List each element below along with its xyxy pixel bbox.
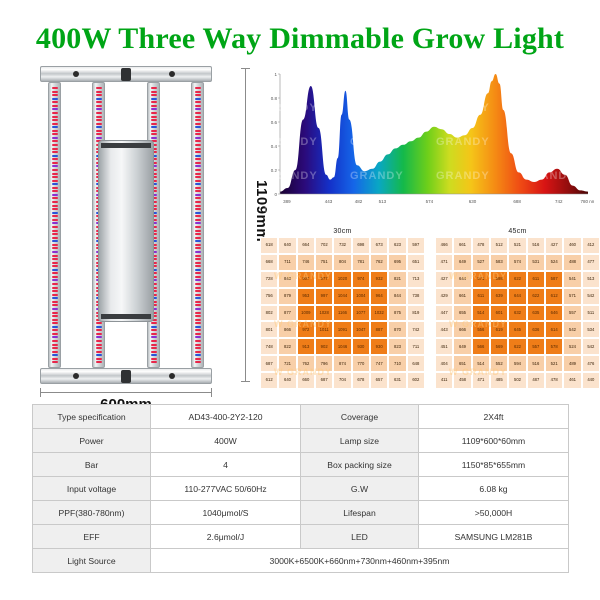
spec-value: 3000K+6500K+660nm+730nm+460nm+395nm — [151, 549, 569, 573]
ppfd-cell: 521 — [545, 355, 563, 372]
spectrum-chart: 00.20.40.60.8138944348251357463068874278… — [258, 66, 594, 226]
ppfd-cell: 622 — [508, 338, 526, 355]
ppfd-cell: 977 — [315, 271, 333, 288]
svg-text:0.8: 0.8 — [271, 96, 278, 101]
ppfd-cell: 698 — [352, 237, 370, 254]
ppfd-map-30cm: 30cm 61864066470273269867362359766871174… — [260, 228, 425, 389]
ppfd-cell: 678 — [352, 372, 370, 389]
grow-light-fixture — [40, 66, 212, 384]
ppfd-cell: 651 — [453, 355, 471, 372]
ppfd-cell: 1046 — [333, 338, 351, 355]
ppfd-cell: 738 — [407, 288, 425, 305]
ppfd-cell: 801 — [260, 321, 278, 338]
spec-value: 400W — [151, 429, 301, 453]
ppfd-cell: 902 — [315, 338, 333, 355]
spec-value: 1040μmol/S — [151, 501, 301, 525]
ppfd-cell: 747 — [370, 355, 388, 372]
ppfd-cell: 427 — [545, 237, 563, 254]
ppfd-cell: 458 — [453, 372, 471, 389]
ppfd-cell: 1020 — [333, 271, 351, 288]
ppfd-cell: 487 — [527, 372, 545, 389]
ppfd-grid: 6186406647027326986736235976687117467518… — [260, 237, 425, 389]
ppfd-cell: 514 — [472, 305, 490, 322]
ppfd-cell: 668 — [260, 254, 278, 271]
table-row: Input voltage110-277VAC 50/60HzG.W6.08 k… — [33, 477, 569, 501]
ppfd-cell: 611 — [527, 271, 545, 288]
ppfd-cell: 1028 — [315, 305, 333, 322]
ppfd-cell: 639 — [490, 288, 508, 305]
ppfd-grid: 4666614785125215164274604124716495275835… — [435, 237, 600, 389]
ppfd-map-label: 45cm — [435, 228, 600, 235]
ppfd-cell: 478 — [545, 372, 563, 389]
width-dimension-line — [40, 392, 212, 393]
spec-label: Bar — [33, 453, 151, 477]
ppfd-cell: 997 — [315, 288, 333, 305]
ppfd-cell: 702 — [315, 237, 333, 254]
ppfd-cell: 756 — [260, 288, 278, 305]
table-row: Bar4Box packing size1150*85*655mm — [33, 453, 569, 477]
ppfd-cell: 1032 — [370, 305, 388, 322]
svg-text:389: 389 — [283, 199, 291, 204]
ppfd-cell: 461 — [563, 372, 581, 389]
table-row: Power400WLamp size1109*600*60mm — [33, 429, 569, 453]
ppfd-cell: 524 — [563, 338, 581, 355]
ppfd-cell: 666 — [453, 321, 471, 338]
ppfd-cell: 614 — [545, 321, 563, 338]
ppfd-cell: 440 — [582, 372, 600, 389]
spec-value: 110-277VAC 50/60Hz — [151, 477, 301, 501]
ppfd-map-45cm: 45cm 46666147851252151642746041247164952… — [435, 228, 600, 389]
ppfd-cell: 651 — [407, 254, 425, 271]
ppfd-cell: 875 — [388, 305, 406, 322]
ppfd-cell: 631 — [388, 372, 406, 389]
product-spec-sheet: 400W Three Way Dimmable Grow Light 1109m… — [0, 0, 600, 600]
ppfd-cell: 1004 — [352, 288, 370, 305]
ppfd-cell: 502 — [508, 372, 526, 389]
ppfd-cell: 411 — [435, 372, 453, 389]
spec-value: 4 — [151, 453, 301, 477]
ppfd-cell: 711 — [407, 338, 425, 355]
led-bar — [191, 82, 204, 368]
ppfd-cell: 488 — [563, 254, 581, 271]
ppfd-cell: 746 — [297, 254, 315, 271]
ppfd-cell: 713 — [407, 271, 425, 288]
ppfd-cell: 542 — [582, 288, 600, 305]
spec-label: Lamp size — [301, 429, 419, 453]
spec-value: 2X4ft — [419, 405, 569, 429]
ppfd-cell: 819 — [407, 305, 425, 322]
ppfd-cell: 1044 — [333, 288, 351, 305]
svg-text:0: 0 — [274, 192, 277, 197]
ppfd-cell: 802 — [260, 305, 278, 322]
ppfd-cell: 511 — [582, 305, 600, 322]
ppfd-cell: 524 — [545, 254, 563, 271]
ppfd-cell: 636 — [527, 321, 545, 338]
ppfd-cell: 602 — [407, 372, 425, 389]
ppfd-cell: 471 — [472, 372, 490, 389]
svg-text:574: 574 — [426, 199, 434, 204]
svg-text:513: 513 — [379, 199, 387, 204]
ppfd-cell: 612 — [545, 288, 563, 305]
ppfd-cell: 513 — [582, 271, 600, 288]
ppfd-cell: 974 — [352, 271, 370, 288]
ppfd-cell: 623 — [388, 237, 406, 254]
ppfd-cell: 644 — [453, 271, 471, 288]
ppfd-cell: 870 — [388, 321, 406, 338]
ppfd-cell: 711 — [278, 254, 296, 271]
ppfd-cell: 619 — [490, 321, 508, 338]
driver-housing — [98, 140, 154, 322]
ppfd-cell: 571 — [472, 271, 490, 288]
svg-text:0.4: 0.4 — [271, 144, 278, 149]
ppfd-cell: 478 — [472, 237, 490, 254]
table-row: EFF2.6μmol/JLEDSAMSUNG LM281B — [33, 525, 569, 549]
ppfd-cell: 471 — [435, 254, 453, 271]
spec-label: Power — [33, 429, 151, 453]
spec-label: Input voltage — [33, 477, 151, 501]
ppfd-cell: 477 — [582, 254, 600, 271]
ppfd-cell: 655 — [453, 305, 471, 322]
ppfd-cell: 447 — [435, 305, 453, 322]
ppfd-cell: 611 — [472, 288, 490, 305]
ppfd-cell: 594 — [508, 355, 526, 372]
spec-label: Box packing size — [301, 453, 419, 477]
ppfd-cell: 964 — [370, 288, 388, 305]
ppfd-cell: 542 — [563, 321, 581, 338]
svg-text:742: 742 — [555, 199, 563, 204]
spec-value: 6.08 kg — [419, 477, 569, 501]
spec-label: Coverage — [301, 405, 419, 429]
spec-value: 1109*600*60mm — [419, 429, 569, 453]
bottom-rail — [40, 368, 212, 384]
ppfd-cell: 742 — [407, 321, 425, 338]
ppfd-cell: 1009 — [297, 305, 315, 322]
spec-label: Type specification — [33, 405, 151, 429]
page-title: 400W Three Way Dimmable Grow Light — [0, 22, 600, 56]
spec-label: G.W — [301, 477, 419, 501]
ppfd-cell: 534 — [582, 321, 600, 338]
ppfd-cell: 597 — [407, 237, 425, 254]
ppfd-cell: 583 — [490, 254, 508, 271]
ppfd-cell: 664 — [297, 237, 315, 254]
ppfd-cell: 512 — [490, 237, 508, 254]
svg-text:0.2: 0.2 — [271, 168, 278, 173]
ppfd-cell: 527 — [472, 254, 490, 271]
ppfd-cell: 877 — [278, 305, 296, 322]
spec-label: PPF(380-780nm) — [33, 501, 151, 525]
ppfd-cell: 574 — [508, 254, 526, 271]
ppfd-cell: 770 — [352, 355, 370, 372]
ppfd-cell: 661 — [453, 237, 471, 254]
ppfd-cell: 728 — [260, 271, 278, 288]
ppfd-cell: 649 — [453, 254, 471, 271]
ppfd-cell: 1091 — [333, 321, 351, 338]
ppfd-cell: 673 — [370, 237, 388, 254]
ppfd-cell: 622 — [508, 271, 526, 288]
ppfd-cell: 721 — [278, 355, 296, 372]
ppfd-cell: 710 — [388, 355, 406, 372]
ppfd-cell: 460 — [563, 237, 581, 254]
ppfd-cell: 661 — [453, 288, 471, 305]
ppfd-cell: 618 — [260, 237, 278, 254]
ppfd-cell: 485 — [490, 372, 508, 389]
table-row: Light Source3000K+6500K+660nm+730nm+460n… — [33, 549, 569, 573]
ppfd-cell: 644 — [508, 288, 526, 305]
ppfd-cell: 657 — [370, 372, 388, 389]
ppfd-cell: 822 — [278, 338, 296, 355]
ppfd-cell: 907 — [297, 271, 315, 288]
svg-text:443: 443 — [325, 199, 333, 204]
table-row: PPF(380-780nm)1040μmol/SLifespan>50,000H — [33, 501, 569, 525]
spec-value: AD43-400-2Y2-120 — [151, 405, 301, 429]
ppfd-cell: 640 — [278, 237, 296, 254]
ppfd-cell: 930 — [370, 338, 388, 355]
ppfd-cell: 821 — [388, 271, 406, 288]
spec-value: SAMSUNG LM281B — [419, 525, 569, 549]
ppfd-cell: 930 — [352, 338, 370, 355]
ppfd-cell: 648 — [407, 355, 425, 372]
ppfd-cell: 404 — [435, 355, 453, 372]
ppfd-cell: 635 — [527, 305, 545, 322]
bottom-mount-knob — [121, 370, 131, 383]
spec-label: LED — [301, 525, 419, 549]
ppfd-cell: 781 — [352, 254, 370, 271]
top-mount-knob — [121, 68, 131, 81]
ppfd-cell: 645 — [508, 321, 526, 338]
ppfd-cell: 587 — [545, 271, 563, 288]
ppfd-cell: 598 — [490, 271, 508, 288]
ppfd-cell: 660 — [297, 372, 315, 389]
ppfd-cell: 953 — [297, 288, 315, 305]
ppfd-cell: 566 — [472, 338, 490, 355]
spec-label: Light Source — [33, 549, 151, 573]
ppfd-cell: 427 — [435, 271, 453, 288]
ppfd-cell: 913 — [297, 338, 315, 355]
ppfd-map-label: 30cm — [260, 228, 425, 235]
ppfd-cell: 1166 — [333, 305, 351, 322]
spec-label: EFF — [33, 525, 151, 549]
spec-value: 2.6μmol/J — [151, 525, 301, 549]
led-bar — [48, 82, 61, 368]
svg-text:780 nm: 780 nm — [580, 199, 594, 204]
ppfd-cell: 640 — [278, 372, 296, 389]
ppfd-cell: 429 — [435, 288, 453, 305]
svg-text:630: 630 — [469, 199, 477, 204]
ppfd-cell: 556 — [472, 321, 490, 338]
ppfd-cell: 569 — [490, 338, 508, 355]
ppfd-cell: 521 — [508, 237, 526, 254]
ppfd-cell: 412 — [582, 237, 600, 254]
svg-text:1: 1 — [274, 72, 277, 77]
svg-text:482: 482 — [355, 199, 363, 204]
spec-label: Lifespan — [301, 501, 419, 525]
ppfd-cell: 622 — [527, 288, 545, 305]
ppfd-cell: 866 — [278, 321, 296, 338]
ppfd-cell: 762 — [370, 254, 388, 271]
ppfd-cell: 762 — [297, 355, 315, 372]
ppfd-cell: 516 — [527, 237, 545, 254]
ppfd-cell: 514 — [472, 355, 490, 372]
ppfd-cell: 646 — [545, 305, 563, 322]
ppfd-cell: 732 — [333, 237, 351, 254]
table-row: Type specificationAD43-400-2Y2-120Covera… — [33, 405, 569, 429]
ppfd-cell: 843 — [278, 271, 296, 288]
spec-value: >50,000H — [419, 501, 569, 525]
svg-text:0.6: 0.6 — [271, 120, 278, 125]
ppfd-cell: 687 — [260, 355, 278, 372]
height-dimension-line — [245, 68, 246, 382]
ppfd-cell: 695 — [388, 254, 406, 271]
ppfd-cell: 687 — [315, 372, 333, 389]
ppfd-cell: 932 — [370, 271, 388, 288]
ppfd-cell: 601 — [490, 305, 508, 322]
spectrum-plot: 00.20.40.60.8138944348251357463068874278… — [258, 66, 594, 226]
ppfd-cell: 751 — [315, 254, 333, 271]
ppfd-maps: 30cm 61864066470273269867362359766871174… — [258, 228, 598, 394]
ppfd-cell: 649 — [453, 338, 471, 355]
product-image: 1109mm 600mm — [22, 62, 254, 402]
ppfd-cell: 466 — [435, 237, 453, 254]
ppfd-cell: 476 — [582, 355, 600, 372]
ppfd-cell: 796 — [315, 355, 333, 372]
ppfd-cell: 804 — [333, 254, 351, 271]
ppfd-cell: 541 — [563, 271, 581, 288]
ppfd-cell: 1047 — [352, 321, 370, 338]
ppfd-cell: 879 — [278, 288, 296, 305]
ppfd-cell: 531 — [527, 254, 545, 271]
ppfd-cell: 557 — [527, 338, 545, 355]
ppfd-cell: 748 — [260, 338, 278, 355]
ppfd-cell: 1077 — [352, 305, 370, 322]
top-rail — [40, 66, 212, 82]
ppfd-cell: 874 — [333, 355, 351, 372]
ppfd-cell: 516 — [527, 355, 545, 372]
ppfd-cell: 542 — [582, 338, 600, 355]
ppfd-cell: 451 — [435, 338, 453, 355]
spec-value: 1150*85*655mm — [419, 453, 569, 477]
ppfd-cell: 571 — [563, 288, 581, 305]
ppfd-cell: 489 — [563, 355, 581, 372]
ppfd-cell: 1011 — [315, 321, 333, 338]
ppfd-cell: 632 — [508, 305, 526, 322]
ppfd-cell: 887 — [370, 321, 388, 338]
ppfd-cell: 578 — [545, 338, 563, 355]
ppfd-cell: 972 — [297, 321, 315, 338]
ppfd-cell: 552 — [490, 355, 508, 372]
ppfd-cell: 823 — [388, 338, 406, 355]
ppfd-cell: 557 — [563, 305, 581, 322]
specification-table: Type specificationAD43-400-2Y2-120Covera… — [32, 404, 569, 573]
ppfd-cell: 704 — [333, 372, 351, 389]
ppfd-cell: 443 — [435, 321, 453, 338]
ppfd-cell: 844 — [388, 288, 406, 305]
svg-text:688: 688 — [513, 199, 521, 204]
ppfd-cell: 612 — [260, 372, 278, 389]
